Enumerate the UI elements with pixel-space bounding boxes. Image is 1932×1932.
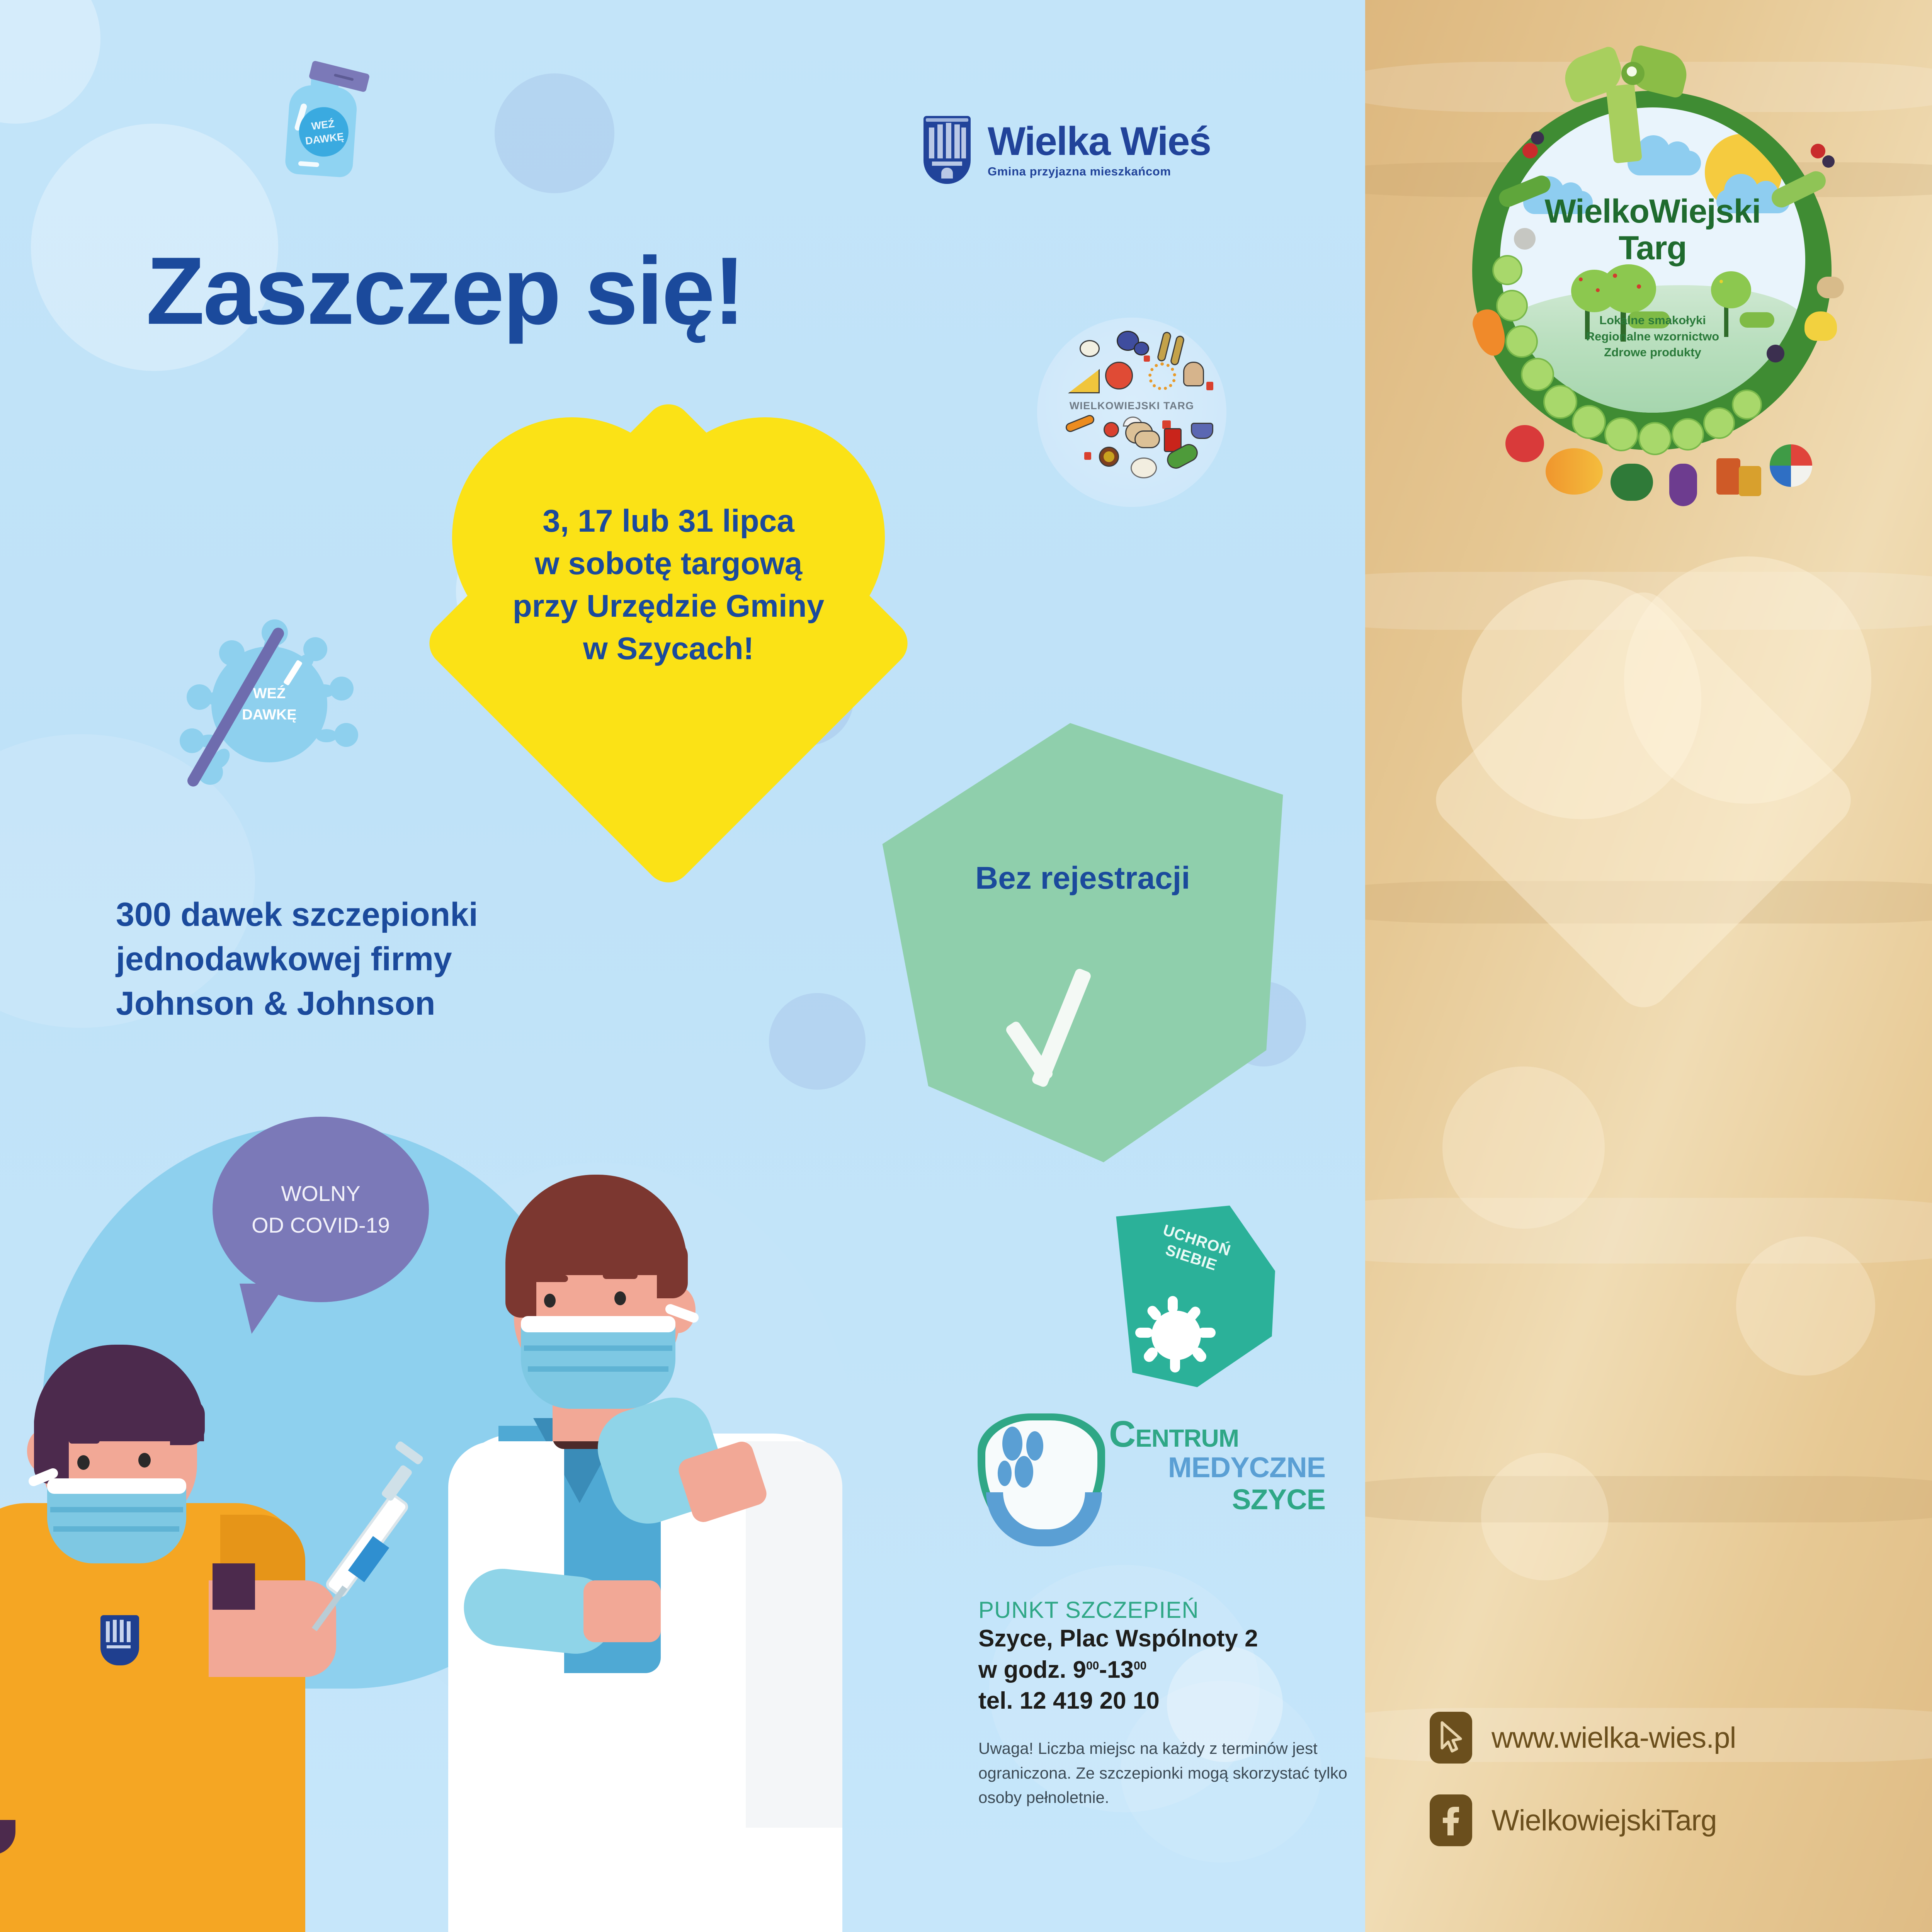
targ-title-line1: WielkoWiejski bbox=[1500, 193, 1805, 230]
family-in-hand-shield-logo: CENTRUM MEDYCZNE SZYCE bbox=[978, 1410, 1325, 1564]
targ-sub-line2: Regionalne wzornictwo bbox=[1500, 328, 1805, 345]
speech-bubble: WOLNY OD COVID-19 bbox=[213, 1117, 429, 1302]
contact-note: Uwaga! Liczba miejsc na każdy z terminów… bbox=[978, 1736, 1365, 1810]
poster-root: Wielka Wieś Gmina przyjazna mieszkańcom … bbox=[0, 0, 1932, 1932]
beach-ball-icon bbox=[1770, 444, 1812, 487]
contact-hours: w godz. 900-1300 bbox=[978, 1655, 1365, 1686]
shield-with-checkmark-icon: Bez rejestracji bbox=[874, 714, 1291, 1162]
no-registration-label: Bez rejestracji bbox=[874, 860, 1291, 896]
left-blue-panel: Wielka Wieś Gmina przyjazna mieszkańcom … bbox=[0, 0, 1365, 1932]
virus-dose-line1: WEŹ bbox=[253, 683, 286, 704]
ribbon-bow-icon bbox=[1564, 46, 1692, 162]
doctor-figure bbox=[475, 1171, 858, 1932]
dates-line-4: w Szycach! bbox=[452, 628, 885, 670]
wielka-wies-tagline: Gmina przyjazna mieszkańcom bbox=[988, 165, 1211, 179]
facebook-label: WielkowiejskiTarg bbox=[1492, 1804, 1717, 1837]
speech-bubble-line1: WOLNY bbox=[281, 1178, 360, 1209]
background-virus-icon bbox=[495, 73, 614, 193]
vaccine-vial-icon: WEŹ DAWKĘ bbox=[280, 65, 365, 186]
facebook-icon bbox=[1430, 1794, 1472, 1846]
jam-jar-icon bbox=[1739, 466, 1761, 496]
cursor-pointer-icon bbox=[1430, 1712, 1472, 1764]
eggplant-icon bbox=[1669, 464, 1697, 506]
facebook-link[interactable]: WielkowiejskiTarg bbox=[1430, 1794, 1736, 1846]
berry-icon bbox=[1822, 155, 1835, 168]
doses-line-3: Johnson & Johnson bbox=[116, 981, 478, 1026]
dates-line-3: przy Urzędzie Gminy bbox=[452, 585, 885, 628]
pepper-icon bbox=[1804, 311, 1837, 341]
berry-icon bbox=[1811, 144, 1825, 158]
page-title: Zaszczep się! bbox=[146, 243, 744, 338]
wielkowiejski-targ-round-logo: WielkoWiejski Targ Lokalne smakołyki Reg… bbox=[1430, 46, 1870, 510]
patient-figure bbox=[4, 1333, 413, 1932]
doses-line-2: jednodawkowej firmy bbox=[116, 937, 478, 981]
targ-sub-line3: Zdrowe produkty bbox=[1500, 344, 1805, 361]
vial-label-line2: DAWKĘ bbox=[304, 129, 345, 148]
market-badge-label: WIELKOWIEJSKI TARG bbox=[1037, 400, 1226, 412]
background-virus-icon bbox=[769, 993, 866, 1090]
szyce-word: SZYCE bbox=[1109, 1484, 1325, 1516]
targ-sub-line1: Lokalne smakołyki bbox=[1500, 312, 1805, 328]
tomato-icon bbox=[1505, 425, 1544, 462]
wielka-wies-logo: Wielka Wieś Gmina przyjazna mieszkańcom bbox=[923, 116, 1211, 184]
dates-text: 3, 17 lub 31 lipca w sobotę targową przy… bbox=[452, 500, 885, 670]
berry-icon bbox=[1767, 345, 1784, 362]
doses-line-1: 300 dawek szczepionki bbox=[116, 893, 478, 937]
pumpkin-icon bbox=[1546, 448, 1603, 495]
contact-block: PUNKT SZCZEPIEŃ Szyce, Plac Wspólnoty 2 … bbox=[978, 1597, 1365, 1810]
checkmark-icon bbox=[1013, 961, 1141, 1089]
beige-heart-decoration bbox=[1462, 580, 1871, 966]
website-label: www.wielka-wies.pl bbox=[1492, 1721, 1736, 1755]
medyczne-word: MEDYCZNE bbox=[1109, 1452, 1325, 1484]
centrum-word: CENTRUM bbox=[1109, 1417, 1325, 1452]
wood-texture-streak bbox=[1365, 1476, 1932, 1522]
stone-icon bbox=[1514, 228, 1536, 250]
targ-title: WielkoWiejski Targ bbox=[1500, 193, 1805, 266]
potato-icon bbox=[1817, 277, 1844, 298]
market-products-circle-icon: WIELKOWIEJSKI TARG bbox=[1037, 318, 1226, 507]
dates-heart: 3, 17 lub 31 lipca w sobotę targową przy… bbox=[452, 417, 885, 823]
wielka-wies-name: Wielka Wieś bbox=[988, 121, 1211, 162]
jam-jar-icon bbox=[1716, 458, 1740, 495]
contact-phone: tel. 12 419 20 10 bbox=[978, 1685, 1365, 1717]
background-virus-icon bbox=[0, 0, 100, 124]
protect-yourself-label: UCHROŃ SIEBIE bbox=[1133, 1214, 1255, 1284]
targ-title-line2: Targ bbox=[1500, 230, 1805, 267]
broccoli-icon bbox=[1611, 464, 1653, 501]
dates-line-1: 3, 17 lub 31 lipca bbox=[452, 500, 885, 543]
berry-icon bbox=[1522, 143, 1538, 158]
crossed-out-virus-icon: WEŹ DAWKĘ bbox=[176, 612, 365, 794]
shield-with-virus-icon: UCHROŃ SIEBIE bbox=[1113, 1206, 1275, 1387]
doses-text: 300 dawek szczepionki jednodawkowej firm… bbox=[116, 893, 478, 1026]
berry-icon bbox=[1531, 131, 1544, 145]
doctor-vaccinating-patient-illustration: WOLNY OD COVID-19 bbox=[0, 1117, 854, 1932]
targ-subtitle: Lokalne smakołyki Regionalne wzornictwo … bbox=[1500, 312, 1805, 361]
virus-dose-line2: DAWKĘ bbox=[242, 704, 296, 726]
vaccination-point-header: PUNKT SZCZEPIEŃ bbox=[978, 1597, 1365, 1623]
shirt-crest-icon bbox=[100, 1615, 139, 1665]
speech-bubble-line2: OD COVID-19 bbox=[252, 1209, 390, 1241]
coat-of-arms-shield-icon bbox=[923, 116, 971, 184]
footer-links: www.wielka-wies.pl WielkowiejskiTarg bbox=[1430, 1712, 1736, 1877]
virus-glyph-icon bbox=[1151, 1311, 1201, 1360]
dates-line-2: w sobotę targową bbox=[452, 543, 885, 585]
contact-address: Szyce, Plac Wspólnoty 2 bbox=[978, 1623, 1365, 1655]
website-link[interactable]: www.wielka-wies.pl bbox=[1430, 1712, 1736, 1764]
